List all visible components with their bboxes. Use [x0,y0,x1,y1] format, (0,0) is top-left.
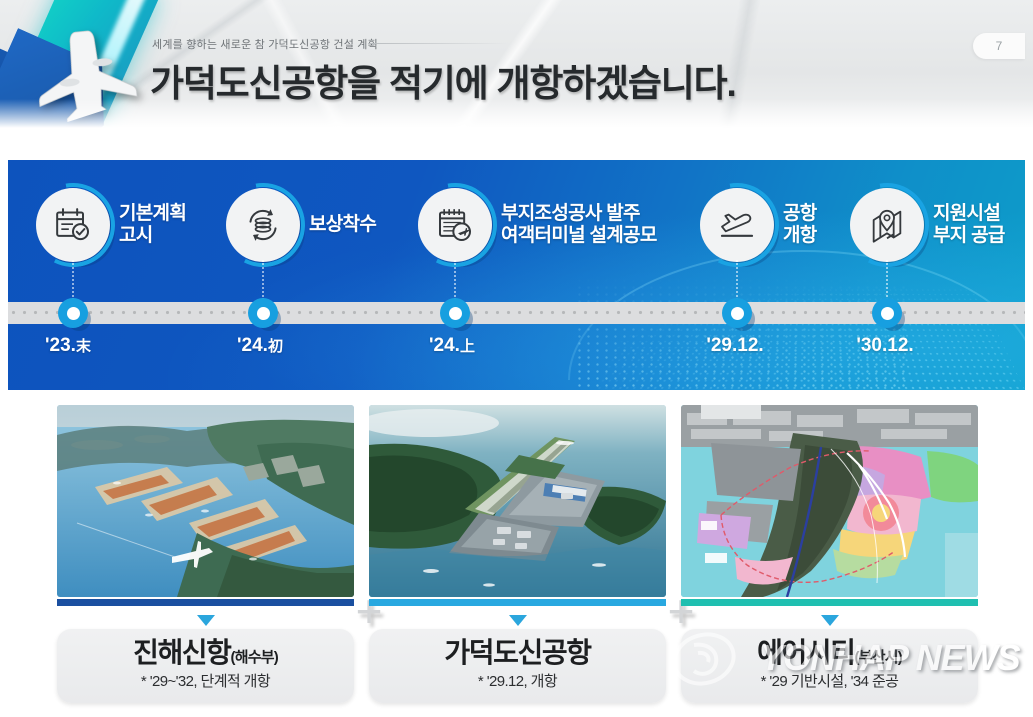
card-3-rule [681,599,978,606]
milestone-5[interactable]: 지원시설 부지 공급 [850,188,1005,262]
milestone-4-label-line2: 개항 [783,225,817,247]
card-air-city[interactable]: 에어시티(부산시) * '29 기반시설, '34 준공 [681,405,978,703]
project-cards: 진해신항(해수부) * '29~'32, 단계적 개항 + [0,400,1033,717]
milestone-5-label: 지원시설 부지 공급 [933,203,1005,247]
card-3-title: 에어시티(부산시) [687,638,972,667]
timeline-node-1[interactable] [58,298,88,328]
card-1-title-sub: (해수부) [231,649,278,666]
calendar-plane-icon [435,205,475,245]
timeline-date-5-year: '30.12. [856,335,913,356]
subtitle-divider [368,43,508,44]
milestone-4-label-line1: 공항 [783,203,817,225]
card-2-title: 가덕도신공항 [375,638,660,667]
card-1-note: * '29~'32, 단계적 개항 [63,670,348,691]
card-3-note: * '29 기반시설, '34 준공 [687,670,972,691]
milestone-5-circle [850,188,924,262]
card-1-title-main: 진해신항 [133,637,230,668]
timeline-connector-3 [454,260,456,300]
timeline-date-3-year: '24. [429,335,460,356]
milestone-3-circle [418,188,492,262]
timeline-node-4[interactable] [722,298,752,328]
card-jinhae-new-port[interactable]: 진해신항(해수부) * '29~'32, 단계적 개항 [57,405,354,703]
page-header: 세계를 향하는 새로운 참 가덕도신공항 건설 계획 가덕도신공항을 적기에 개… [0,0,1033,133]
card-3-title-sub: (부산시) [855,649,902,666]
timeline-connector-2 [262,260,264,300]
timeline-date-1: '23.末 [45,335,91,357]
card-3-arrow-icon [821,615,839,626]
timeline-date-4-year: '29.12. [706,335,763,356]
milestone-2[interactable]: 보상착수 [226,188,376,262]
gadeokdo-airport-rendering [369,405,666,597]
milestone-3[interactable]: 부지조성공사 발주 여객터미널 설계공모 [418,188,657,262]
timeline-date-2-year: '24. [237,335,268,356]
money-recycle-icon [243,205,283,245]
milestone-4[interactable]: 공항 개항 [700,188,817,262]
milestone-2-label: 보상착수 [309,214,376,236]
timeline-panel: 기본계획 고시 보상착수 [8,160,1025,390]
timeline-date-2: '24.初 [237,335,283,357]
card-2-caption: 가덕도신공항 * '29.12, 개항 [369,629,666,703]
timeline-connector-4 [736,260,738,300]
dot-grid-decoration-2 [575,270,905,390]
milestone-4-label: 공항 개항 [783,203,817,247]
milestone-1-label-line2: 고시 [119,225,186,247]
card-2-arrow-icon [509,615,527,626]
card-3-title-main: 에어시티 [757,637,854,668]
timeline-date-4: '29.12. [706,335,763,357]
card-2-rule [369,599,666,606]
timeline-connector-1 [72,260,74,300]
timeline-date-5: '30.12. [856,335,913,357]
timeline-date-2-suffix: 初 [268,338,283,355]
card-1-caption: 진해신항(해수부) * '29~'32, 단계적 개항 [57,629,354,703]
milestone-3-label-line1: 부지조성공사 발주 [501,203,657,225]
timeline-node-5[interactable] [872,298,902,328]
timeline-date-3: '24.上 [429,335,475,357]
timeline-node-3[interactable] [440,298,470,328]
card-1-arrow-icon [197,615,215,626]
jinhae-new-port-rendering [57,405,354,597]
milestone-3-label-line2: 여객터미널 설계공모 [501,225,657,247]
plane-takeoff-icon [717,205,757,245]
timeline-date-3-suffix: 上 [460,338,475,355]
milestone-3-label: 부지조성공사 발주 여객터미널 설계공모 [501,203,657,247]
page-number: 7 [973,33,1025,59]
timeline-node-2[interactable] [248,298,278,328]
calendar-check-icon [53,205,93,245]
milestone-5-label-line1: 지원시설 [933,203,1005,225]
milestone-1-label: 기본계획 고시 [119,203,186,247]
milestone-1-circle [36,188,110,262]
card-3-caption: 에어시티(부산시) * '29 기반시설, '34 준공 [681,629,978,703]
milestone-2-label-line1: 보상착수 [309,214,376,236]
header-subtitle: 세계를 향하는 새로운 참 가덕도신공항 건설 계획 [152,36,378,52]
map-pin-icon [867,205,907,245]
timeline-date-1-suffix: 末 [76,338,91,355]
air-city-landuse-map [681,405,978,597]
card-2-title-main: 가덕도신공항 [444,637,590,668]
milestone-2-circle [226,188,300,262]
milestone-5-label-line2: 부지 공급 [933,225,1005,247]
timeline-connector-5 [886,260,888,300]
timeline-date-1-year: '23. [45,335,76,356]
card-2-note: * '29.12, 개항 [375,670,660,691]
milestone-1[interactable]: 기본계획 고시 [36,188,186,262]
card-1-rule [57,599,354,606]
header-fade [0,99,1033,133]
card-gadeokdo-airport[interactable]: 가덕도신공항 * '29.12, 개항 [369,405,666,703]
card-1-title: 진해신항(해수부) [63,638,348,667]
milestone-1-label-line1: 기본계획 [119,203,186,225]
milestone-4-circle [700,188,774,262]
